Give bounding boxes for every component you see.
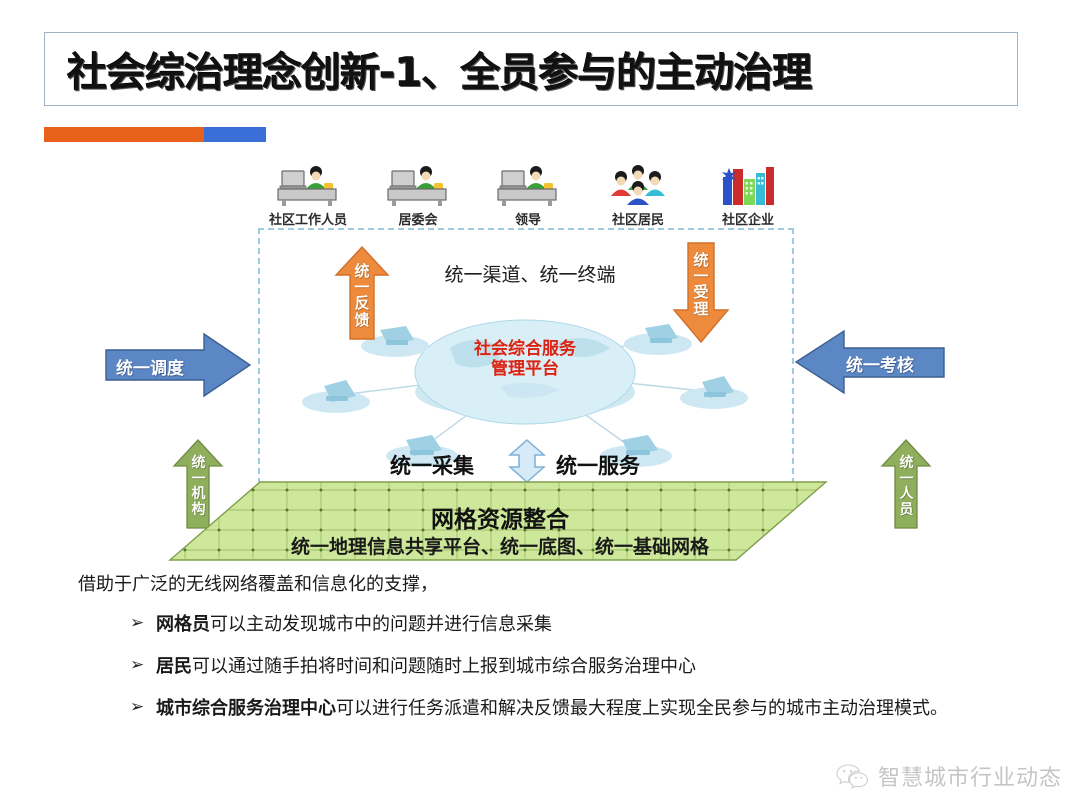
bullet-marker-icon: ➢ [130,652,156,680]
bullet-marker-icon: ➢ [130,610,156,638]
bullet-lead: 网格员 [156,614,210,635]
actor-community-residents: 社区居民 [588,163,688,228]
arrow-institution-label: 统一机构 [190,456,207,519]
diagram-region: 社区工作人员 居委会 [0,150,1080,570]
page-title: 社会综治理念创新-1、全员参与的主动治理 [45,40,811,98]
buildings-chart-icon [717,163,779,207]
accent-bar-orange [44,127,204,142]
arrow-feedback-label: 统一反馈 [353,263,371,328]
service-label: 统一服务 [556,450,640,480]
bullet-rest: 可以通过随手拍将时间和问题随时上报到城市综合服务治理中心 [192,656,696,677]
actor-residents-committee: 居委会 [368,163,468,228]
actor-label: 社区企业 [722,209,774,228]
arrow-acceptance-label: 统一受理 [692,252,710,317]
actor-label: 社区工作人员 [269,209,347,228]
arrow-unified-personnel: 统一人员 [880,438,932,535]
arrow-assessment-label: 统一考核 [846,351,914,376]
person-at-desk-icon [492,163,564,207]
body-text-block: 借助于广泛的无线网络覆盖和信息化的支撑， ➢ 网格员可以主动发现城市中的问题并进… [78,570,1008,736]
actor-label: 领导 [515,209,541,228]
list-item: ➢ 居民可以通过随手拍将时间和问题随时上报到城市综合服务治理中心 [130,652,1008,681]
channel-terminal-label: 统一渠道、统一终端 [380,260,680,287]
platform-label-line2: 管理平台 [430,360,620,380]
actor-label: 居委会 [398,209,437,228]
intro-paragraph: 借助于广泛的无线网络覆盖和信息化的支撑， [78,570,1008,596]
list-item: ➢ 网格员可以主动发现城市中的问题并进行信息采集 [130,610,1008,639]
actor-community-staff: 社区工作人员 [258,163,358,228]
arrow-personnel-label: 统一人员 [898,456,915,519]
arrow-dispatch-label: 统一调度 [116,354,184,379]
bullet-rest: 可以进行任务派遣和解决反馈最大程度上实现全民参与的城市主动治理模式。 [336,698,948,719]
actor-row: 社区工作人员 居委会 [258,158,798,228]
watermark-text: 智慧城市行业动态 [878,760,1062,792]
person-at-desk-icon [272,163,344,207]
bullet-marker-icon: ➢ [130,694,156,722]
people-group-icon [605,163,671,207]
person-at-desk-icon [382,163,454,207]
list-item: ➢ 城市综合服务治理中心可以进行任务派遣和解决反馈最大程度上实现全民参与的城市主… [130,694,1008,723]
arrow-unified-dispatch: 统一调度 [104,332,252,403]
title-box: 社会综治理念创新-1、全员参与的主动治理 [44,32,1018,106]
accent-bar-blue [204,127,266,142]
bullet-body: 网格员可以主动发现城市中的问题并进行信息采集 [156,610,1008,639]
bullet-rest: 可以主动发现城市中的问题并进行信息采集 [210,614,552,635]
bullet-lead: 居民 [156,656,192,677]
slide-canvas: 社会综治理念创新-1、全员参与的主动治理 社区工作人员 [0,0,1080,810]
platform-label-line1: 社会综合服务 [430,340,620,360]
collect-label: 统一采集 [390,450,474,480]
bullet-body: 居民可以通过随手拍将时间和问题随时上报到城市综合服务治理中心 [156,652,1008,681]
actor-leader: 领导 [478,163,578,228]
arrow-unified-acceptance: 统一受理 [672,240,730,349]
platform-center-label: 社会综合服务 管理平台 [430,340,620,379]
bullet-lead: 城市综合服务治理中心 [156,698,336,719]
arrow-unified-feedback: 统一反馈 [334,245,390,346]
actor-label: 社区居民 [612,209,664,228]
arrow-unified-assessment: 统一考核 [794,328,946,401]
ground-subtitle: 统一地理信息共享平台、统一底图、统一基础网格 [200,532,800,559]
watermark: 智慧城市行业动态 [836,760,1062,792]
ground-title: 网格资源整合 [360,500,640,534]
wechat-icon [836,762,870,790]
bullet-body: 城市综合服务治理中心可以进行任务派遣和解决反馈最大程度上实现全民参与的城市主动治… [156,694,1008,723]
actor-community-enterprise: 社区企业 [698,163,798,228]
